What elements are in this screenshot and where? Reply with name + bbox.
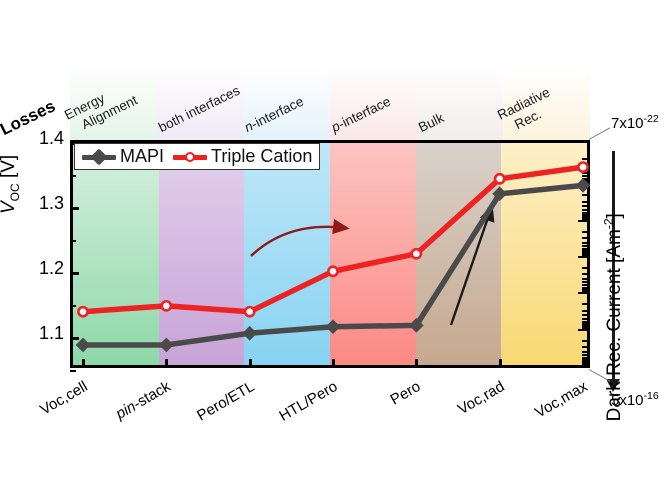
x-tick-label-2: Pero/ETL [179, 378, 257, 433]
x-tick-label-3: HTL/Pero [263, 378, 341, 433]
band-header-2: both interfaces [157, 66, 244, 140]
data-point-mapi-3 [326, 319, 341, 334]
x-tick-label-5: Voc,rad [429, 378, 507, 433]
data-point-triple-cation-5 [495, 174, 504, 183]
data-point-triple-cation-3 [328, 267, 337, 276]
band-header-4: p-interface [330, 66, 417, 140]
right-bottom-exponent: -16 [644, 390, 659, 402]
right-axis-group: Dark Rec. Current [Am-2] [604, 145, 670, 405]
data-point-mapi-0 [76, 338, 91, 353]
band-header-5: Bulk [417, 66, 504, 140]
y-axis-title-symbol: V [0, 201, 19, 214]
data-point-mapi-6 [576, 178, 591, 193]
data-point-triple-cation-0 [78, 307, 87, 316]
annotation-straight-arrow [451, 209, 491, 325]
y-axis-title-unit: [V] [0, 155, 19, 184]
band-header-label-6: Radiative Rec. [495, 85, 560, 138]
data-point-triple-cation-2 [245, 307, 254, 316]
right-axis-top-value: 7x10-22 [611, 113, 659, 132]
y-tick-label-1.4: 1.4 [20, 128, 64, 149]
data-point-mapi-2 [242, 326, 257, 341]
x-tick-label-1: pin-stack [96, 378, 174, 433]
data-point-triple-cation-6 [578, 163, 587, 172]
right-axis-title-exponent: -2 [602, 219, 616, 230]
right-top-exponent: -22 [644, 113, 659, 125]
data-series-overlay [73, 143, 593, 371]
y-tick-label-1.2: 1.2 [20, 258, 64, 279]
band-header-label-4: p-interface [329, 94, 393, 136]
figure-root: Losses Energy Alignmentboth interfacesn-… [0, 0, 670, 503]
band-header-row: Energy Alignmentboth interfacesn-interfa… [70, 66, 590, 140]
y-tick-label-1.1: 1.1 [20, 323, 64, 344]
band-header-3: n-interface [243, 66, 330, 140]
legend-label-0: MAPI [120, 146, 164, 167]
band-header-label-2: both interfaces [156, 83, 243, 136]
band-header-label-3: n-interface [242, 94, 306, 136]
right-top-mantissa: 7x10 [611, 115, 644, 132]
y-axis-title: VOC [V] [0, 155, 22, 214]
x-tick-label-6: Voc,max [513, 378, 591, 433]
right-axis-bottom-value: 5x10-16 [611, 390, 659, 409]
plot-area [70, 140, 590, 368]
y-tick-label-1.3: 1.3 [20, 193, 64, 214]
legend-marker-diamond-icon [82, 150, 116, 164]
annotation-curved-arrow [251, 227, 345, 256]
legend: MAPITriple Cation [74, 143, 320, 170]
band-header-label-5: Bulk [416, 110, 447, 136]
x-tick-label-4: Pero [346, 378, 424, 433]
series-line-triple-cation [83, 167, 583, 312]
legend-marker-circle-icon [173, 150, 207, 164]
band-header-label-1: Energy Alignment [62, 78, 140, 138]
top-right-leader-line [589, 127, 610, 140]
right-bottom-mantissa: 5x10 [611, 392, 644, 409]
band-header-1: Energy Alignment [70, 66, 157, 140]
x-tick-label-0: Voc,cell [13, 378, 91, 433]
right-axis-title-bracket: ] [604, 213, 625, 218]
data-point-triple-cation-4 [412, 249, 421, 258]
data-point-mapi-1 [159, 338, 174, 353]
legend-item-triple-cation[interactable]: Triple Cation [173, 146, 312, 167]
data-point-triple-cation-1 [162, 301, 171, 310]
band-header-6: Radiative Rec. [503, 66, 590, 140]
legend-label-1: Triple Cation [211, 146, 312, 167]
legend-item-mapi[interactable]: MAPI [82, 146, 164, 167]
